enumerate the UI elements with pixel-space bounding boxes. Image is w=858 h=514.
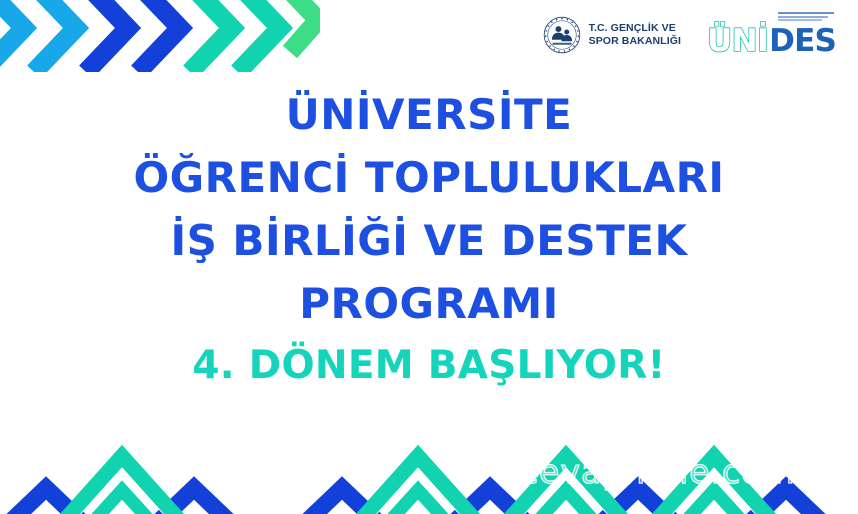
ministry-logo-text: T.C. GENÇLİK VE SPOR BAKANLIĞI <box>589 22 681 48</box>
bottom-chevron-band <box>0 434 858 514</box>
site-watermark: cevaphane.com <box>520 452 795 491</box>
unides-tagline <box>778 12 836 23</box>
unides-logo-uni: ÜNİ <box>707 27 768 56</box>
unides-logo: ÜNİ DES <box>707 14 836 56</box>
top-chevron-band <box>0 0 320 72</box>
headline-line-4: PROGRAMI <box>0 283 858 325</box>
tc-ministry-seal-icon <box>543 16 581 54</box>
ministry-logo: T.C. GENÇLİK VE SPOR BAKANLIĞI <box>543 16 681 54</box>
poster-canvas: T.C. GENÇLİK VE SPOR BAKANLIĞI ÜNİ DES Ü… <box>0 0 858 514</box>
headline-line-1: ÜNİVERSİTE <box>0 94 858 136</box>
unides-logo-des: DES <box>769 27 836 56</box>
ministry-line-2: SPOR BAKANLIĞI <box>589 35 681 48</box>
logo-bar: T.C. GENÇLİK VE SPOR BAKANLIĞI ÜNİ DES <box>543 14 836 56</box>
headline-line-2: ÖĞRENCİ TOPLULUKLARI <box>0 157 858 199</box>
headline-line-5: 4. DÖNEM BAŞLIYOR! <box>0 346 858 385</box>
headline-line-3: İŞ BİRLİĞİ VE DESTEK <box>0 220 858 262</box>
ministry-line-1: T.C. GENÇLİK VE <box>589 22 681 35</box>
headline-block: ÜNİVERSİTE ÖĞRENCİ TOPLULUKLARI İŞ BİRLİ… <box>0 94 858 385</box>
